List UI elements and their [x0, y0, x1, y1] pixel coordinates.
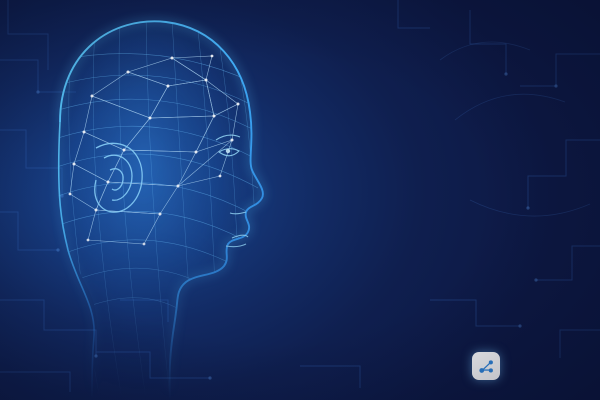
glowing-particles [0, 0, 600, 400]
logo-wordmark [508, 355, 513, 378]
brand-logo[interactable] [472, 352, 513, 380]
poster-canvas [0, 0, 600, 400]
network-nodes-icon [472, 352, 500, 380]
